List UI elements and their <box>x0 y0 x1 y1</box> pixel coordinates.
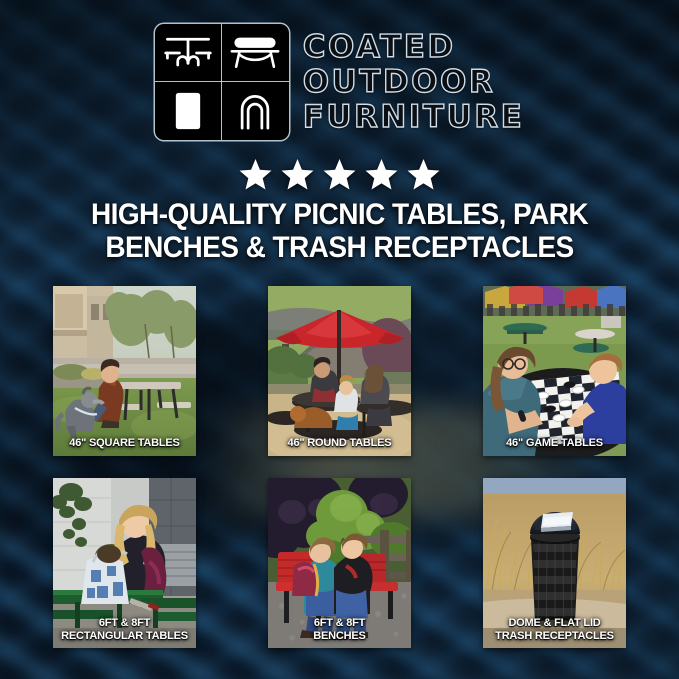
caption-line-1: 46" SQUARE TABLES <box>56 437 193 450</box>
product-tile-game-tables[interactable]: 46" GAME TABLES <box>483 286 626 456</box>
trash-receptacle-icon <box>155 82 222 140</box>
logo-wordmark: COATED OUTDOOR FURNITURE <box>303 30 525 134</box>
promotional-banner: COATED OUTDOOR FURNITURE HIGH-QUALITY PI… <box>0 0 679 679</box>
star-rating <box>0 158 679 191</box>
star-icon <box>239 158 272 191</box>
bike-rack-icon <box>222 82 289 140</box>
product-tile-grid: 46" SQUARE TABLES <box>53 286 626 648</box>
caption-line-1: 6FT & 8FT <box>56 617 193 630</box>
logo-line-coated: COATED <box>303 30 525 64</box>
caption-line-1: DOME & FLAT LID <box>486 617 623 630</box>
product-photo-game-tables <box>483 286 626 456</box>
product-caption: 46" GAME TABLES <box>483 437 626 450</box>
product-photo-round-tables <box>268 286 411 456</box>
product-caption: 46" SQUARE TABLES <box>53 437 196 450</box>
product-photo-square-tables <box>53 286 196 456</box>
logo-line-furniture: FURNITURE <box>303 100 525 134</box>
product-caption: 46" ROUND TABLES <box>268 437 411 450</box>
caption-line-1: 6FT & 8FT <box>271 617 408 630</box>
headline: HIGH-QUALITY PICNIC TABLES, PARK BENCHES… <box>17 198 662 264</box>
product-tile-round-tables[interactable]: 46" ROUND TABLES <box>268 286 411 456</box>
caption-line-2: TRASH RECEPTACLES <box>486 630 623 643</box>
brand-logo: COATED OUTDOOR FURNITURE <box>0 24 679 140</box>
product-caption: 6FT & 8FT BENCHES <box>268 617 411 642</box>
park-bench-icon <box>222 24 289 82</box>
picnic-table-icon <box>155 24 222 82</box>
logo-icon-grid <box>155 24 289 140</box>
product-tile-trash-receptacles[interactable]: DOME & FLAT LID TRASH RECEPTACLES <box>483 478 626 648</box>
headline-line-2: BENCHES & TRASH RECEPTACLES <box>42 231 638 264</box>
star-icon <box>407 158 440 191</box>
logo-line-outdoor: OUTDOOR <box>303 65 525 99</box>
caption-line-2: BENCHES <box>271 630 408 643</box>
product-caption: DOME & FLAT LID TRASH RECEPTACLES <box>483 617 626 642</box>
caption-line-2: RECTANGULAR TABLES <box>56 630 193 643</box>
star-icon <box>323 158 356 191</box>
product-tile-benches[interactable]: 6FT & 8FT BENCHES <box>268 478 411 648</box>
headline-line-1: HIGH-QUALITY PICNIC TABLES, PARK <box>42 198 638 231</box>
product-caption: 6FT & 8FT RECTANGULAR TABLES <box>53 617 196 642</box>
product-tile-rectangular-tables[interactable]: 6FT & 8FT RECTANGULAR TABLES <box>53 478 196 648</box>
star-icon <box>365 158 398 191</box>
star-icon <box>281 158 314 191</box>
product-tile-square-tables[interactable]: 46" SQUARE TABLES <box>53 286 196 456</box>
caption-line-1: 46" ROUND TABLES <box>271 437 408 450</box>
caption-line-1: 46" GAME TABLES <box>486 437 623 450</box>
